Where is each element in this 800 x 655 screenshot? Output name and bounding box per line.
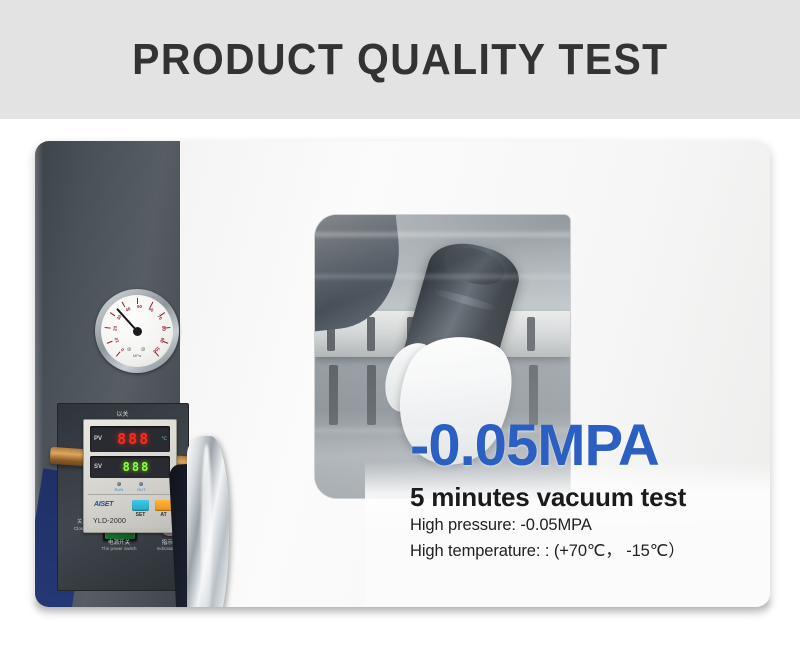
floor-slot [329, 365, 338, 425]
controller-brand: AISET [94, 501, 113, 508]
spec-high-temperature: High temperature: : (+70℃， -15℃） [410, 538, 760, 564]
gauge-number: 20 [112, 326, 117, 332]
gauge-number: 10 [114, 337, 121, 344]
out-led-label: OUT [137, 487, 145, 492]
at-button-label: AT [155, 512, 172, 518]
indicator-out: OUT [137, 482, 145, 492]
gauge-number: 50 [137, 304, 142, 309]
sv-value: 888 [106, 460, 167, 474]
page-title: PRODUCT QUALITY TEST [132, 35, 668, 85]
gauge-face: 0 10 20 30 40 50 60 70 80 90 100 MPa [101, 295, 173, 367]
gauge-screw [141, 347, 145, 351]
chamber-door-handle[interactable] [187, 436, 229, 607]
gauge-number: 0 [120, 347, 125, 352]
sv-label: SV [94, 464, 106, 470]
pv-display: PV 888 ℃ [90, 426, 170, 452]
valve-close-label-cn: 以关 [116, 412, 129, 419]
floor-slot [367, 365, 376, 425]
power-switch-label: 电源开关 The power switch [92, 540, 146, 551]
indicator-run: RUN [114, 482, 123, 492]
run-led-label: RUN [114, 487, 123, 492]
set-button[interactable] [132, 500, 149, 511]
out-led-icon [139, 482, 143, 486]
set-button-label: SET [132, 512, 149, 518]
gauge-screw [127, 347, 131, 351]
gauge-unit-label: MPa [101, 353, 173, 358]
gauge-number: 60 [148, 306, 155, 313]
controller-lower-panel: AISET SET AT YLD-2000 [88, 494, 172, 528]
run-led-icon [117, 482, 121, 486]
pv-value: 888 [106, 430, 161, 448]
controller-model: YLD-2000 [93, 518, 126, 525]
vacuum-pressure-gauge: 0 10 20 30 40 50 60 70 80 90 100 MPa [95, 289, 179, 373]
spec-high-pressure: High pressure: -0.05MPA [410, 512, 760, 538]
gauge-number: 80 [161, 326, 166, 332]
power-switch-label-en: The power switch [92, 546, 146, 551]
gauge-hub [133, 327, 142, 336]
product-photo-card: 0 10 20 30 40 50 60 70 80 90 100 MPa 以关 … [35, 141, 770, 607]
pv-label: PV [94, 436, 106, 442]
pv-unit: ℃ [161, 436, 167, 442]
sv-display: SV 888 [90, 456, 170, 478]
test-subheading: 5 minutes vacuum test [410, 482, 760, 512]
at-button[interactable] [155, 500, 172, 511]
temperature-controller[interactable]: PV 888 ℃ SV 888 RUN OUT AISET SET AT YL [83, 419, 177, 533]
pressure-value: -0.05MPA [410, 416, 760, 476]
product-seam [430, 286, 499, 313]
controller-indicators: RUN OUT [84, 482, 176, 492]
page-header: PRODUCT QUALITY TEST [0, 0, 800, 119]
test-result-overlay: -0.05MPA 5 minutes vacuum test High pres… [410, 416, 760, 564]
gauge-number: 40 [125, 306, 132, 313]
